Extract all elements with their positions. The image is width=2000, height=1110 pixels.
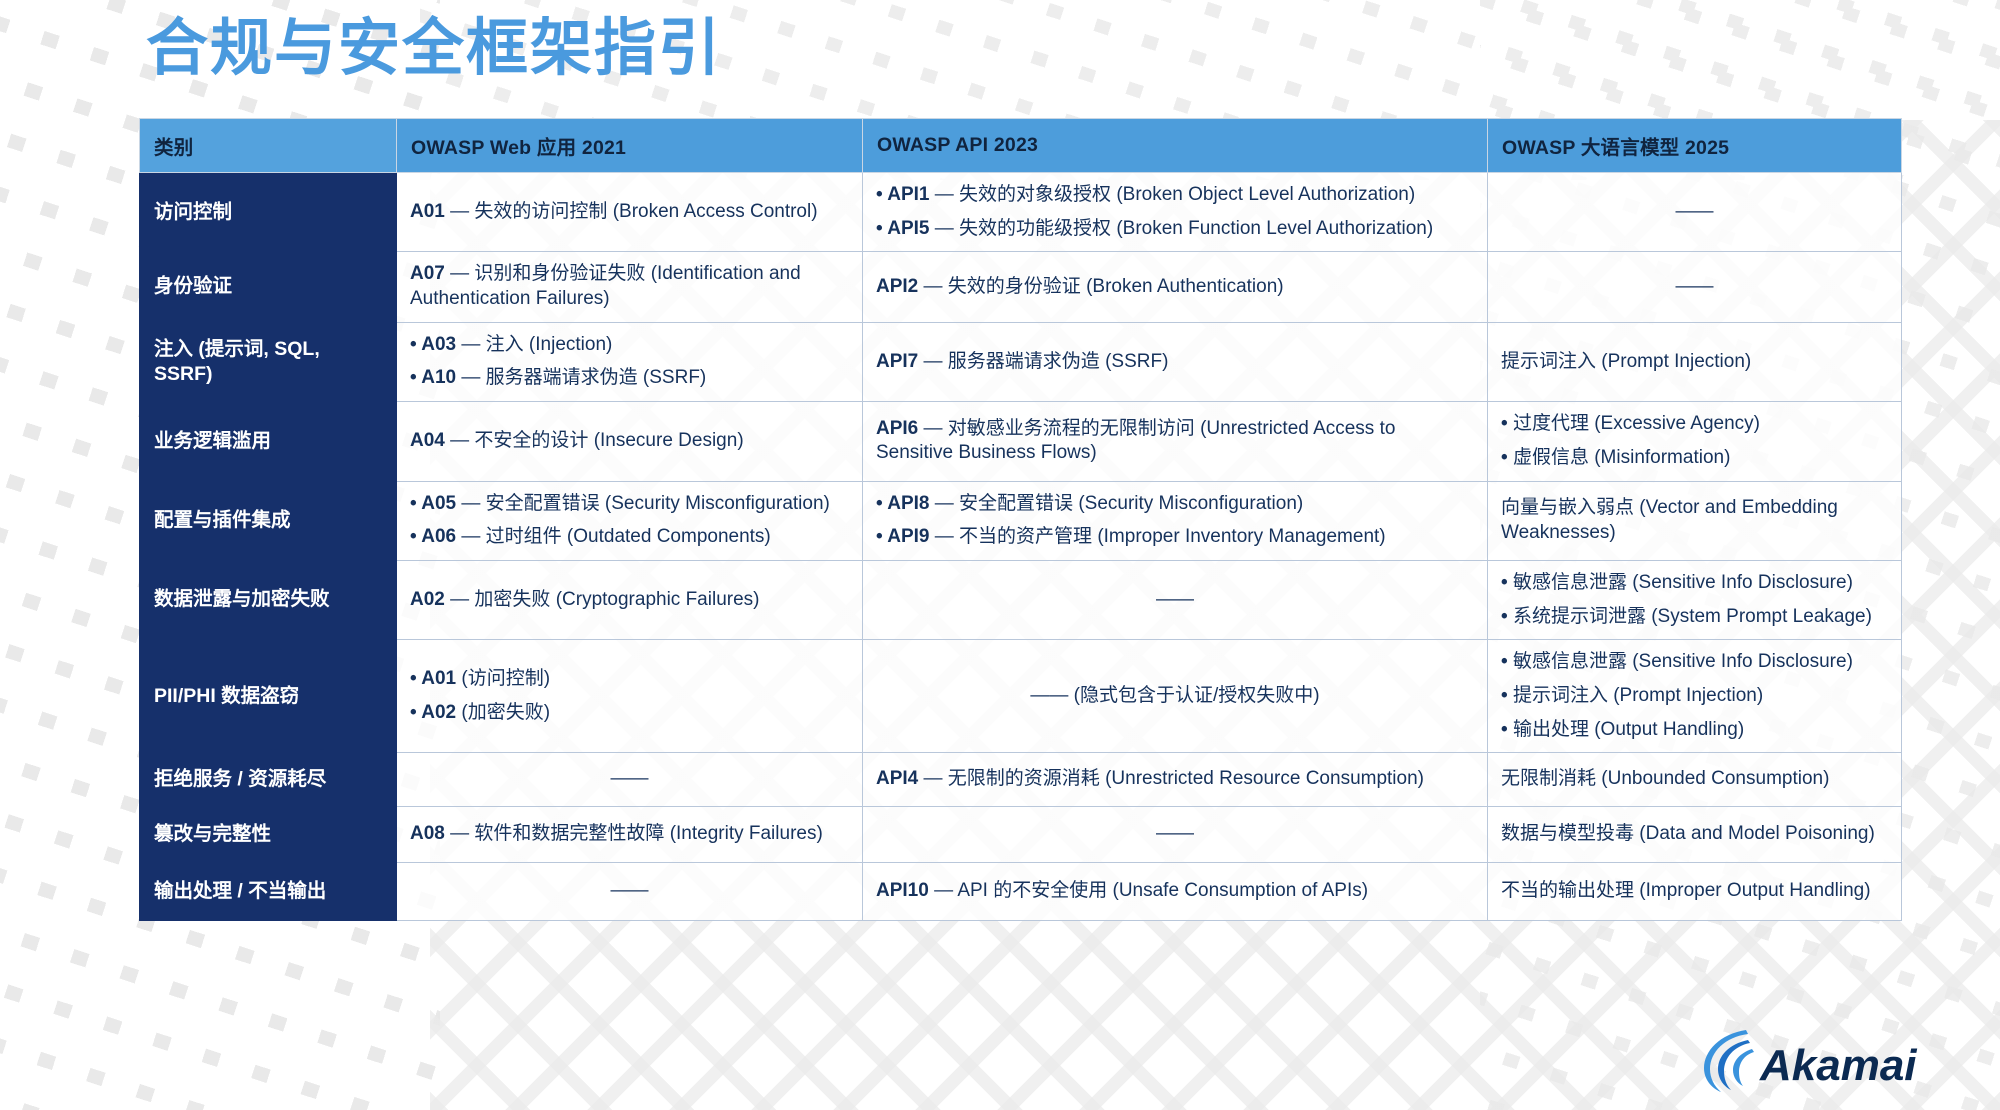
llm-entry: —— xyxy=(1501,200,1888,225)
owasp-web-cell: A07 — 识别和身份验证失败 (Identification and Auth… xyxy=(397,252,863,322)
owasp-web-cell: A08 — 软件和数据完整性故障 (Integrity Failures) xyxy=(397,807,863,863)
entry-text: —— xyxy=(1156,823,1194,844)
web-cell-content: A04 — 不安全的设计 (Insecure Design) xyxy=(410,429,849,454)
owasp-api-cell: —— (隐式包含于认证/授权失败中) xyxy=(863,640,1488,753)
entry-text: — 无限制的资源消耗 (Unrestricted Resource Consum… xyxy=(918,768,1424,789)
entry-text: — API 的不安全使用 (Unsafe Consumption of APIs… xyxy=(929,880,1368,901)
owasp-llm-cell: 敏感信息泄露 (Sensitive Info Disclosure)提示词注入 … xyxy=(1488,640,1902,753)
owasp-llm-cell: 数据与模型投毒 (Data and Model Poisoning) xyxy=(1488,807,1902,863)
llm-entry: 不当的输出处理 (Improper Output Handling) xyxy=(1501,879,1888,904)
row-category-cell: PII/PHI 数据盗窃 xyxy=(140,640,397,753)
entry-code: API8 xyxy=(887,493,929,514)
row-category-cell: 拒绝服务 / 资源耗尽 xyxy=(140,753,397,807)
api-cell-content: —— xyxy=(876,822,1474,847)
svg-text:Akamai: Akamai xyxy=(1759,1041,1917,1090)
llm-entry: 虚假信息 (Misinformation) xyxy=(1501,446,1888,471)
web-entry: A05 — 安全配置错误 (Security Misconfiguration) xyxy=(410,492,849,517)
owasp-llm-cell: 提示词注入 (Prompt Injection) xyxy=(1488,322,1902,401)
web-entry: A02 — 加密失败 (Cryptographic Failures) xyxy=(410,588,849,613)
owasp-web-cell: A04 — 不安全的设计 (Insecure Design) xyxy=(397,402,863,481)
entry-code: A04 xyxy=(410,430,445,451)
llm-cell-content: 无限制消耗 (Unbounded Consumption) xyxy=(1501,767,1888,792)
llm-cell-content: 敏感信息泄露 (Sensitive Info Disclosure)系统提示词泄… xyxy=(1501,571,1888,629)
entry-text: —— xyxy=(1156,589,1194,610)
table-row: 业务逻辑滥用A04 — 不安全的设计 (Insecure Design)API6… xyxy=(140,402,1902,481)
entry-text: (加密失败) xyxy=(456,702,550,723)
owasp-mapping-table: 类别 OWASP Web 应用 2021 OWASP API 2023 OWAS… xyxy=(139,118,1902,921)
owasp-api-cell: API2 — 失效的身份验证 (Broken Authentication) xyxy=(863,252,1488,322)
table-header-row: 类别 OWASP Web 应用 2021 OWASP API 2023 OWAS… xyxy=(140,119,1902,173)
web-entry: A07 — 识别和身份验证失败 (Identification and Auth… xyxy=(410,262,849,311)
api-entry: API8 — 安全配置错误 (Security Misconfiguration… xyxy=(876,492,1474,517)
table-row: 身份验证A07 — 识别和身份验证失败 (Identification and … xyxy=(140,252,1902,322)
table-row: PII/PHI 数据盗窃A01 (访问控制)A02 (加密失败)—— (隐式包含… xyxy=(140,640,1902,753)
table-row: 输出处理 / 不当输出——API10 — API 的不安全使用 (Unsafe … xyxy=(140,863,1902,921)
api-cell-content: API4 — 无限制的资源消耗 (Unrestricted Resource C… xyxy=(876,767,1474,792)
table-row: 配置与插件集成A05 — 安全配置错误 (Security Misconfigu… xyxy=(140,481,1902,560)
owasp-web-cell: A01 — 失效的访问控制 (Broken Access Control) xyxy=(397,173,863,252)
llm-entry: 提示词注入 (Prompt Injection) xyxy=(1501,684,1888,709)
owasp-api-cell: API6 — 对敏感业务流程的无限制访问 (Unrestricted Acces… xyxy=(863,402,1488,481)
owasp-api-cell: API7 — 服务器端请求伪造 (SSRF) xyxy=(863,322,1488,401)
owasp-web-cell: A01 (访问控制)A02 (加密失败) xyxy=(397,640,863,753)
entry-code: A03 xyxy=(421,334,456,355)
entry-text: — 对敏感业务流程的无限制访问 (Unrestricted Access to … xyxy=(876,418,1395,464)
web-entry: —— xyxy=(410,767,849,792)
llm-cell-content: 过度代理 (Excessive Agency)虚假信息 (Misinformat… xyxy=(1501,412,1888,470)
owasp-llm-cell: 过度代理 (Excessive Agency)虚假信息 (Misinformat… xyxy=(1488,402,1902,481)
table-row: 注入 (提示词, SQL, SSRF)A03 — 注入 (Injection)A… xyxy=(140,322,1902,401)
owasp-api-cell: API4 — 无限制的资源消耗 (Unrestricted Resource C… xyxy=(863,753,1488,807)
entry-text: 无限制消耗 (Unbounded Consumption) xyxy=(1501,768,1829,789)
llm-entry: 无限制消耗 (Unbounded Consumption) xyxy=(1501,767,1888,792)
akamai-logo: Akamai xyxy=(1694,1024,1934,1096)
entry-text: 数据与模型投毒 (Data and Model Poisoning) xyxy=(1501,823,1875,844)
entry-code: A02 xyxy=(410,589,445,610)
llm-cell-content: 向量与嵌入弱点 (Vector and Embedding Weaknesses… xyxy=(1501,496,1888,545)
row-category-cell: 数据泄露与加密失败 xyxy=(140,560,397,639)
owasp-llm-cell: —— xyxy=(1488,252,1902,322)
api-cell-content: —— (隐式包含于认证/授权失败中) xyxy=(876,684,1474,709)
owasp-api-cell: —— xyxy=(863,560,1488,639)
akamai-swoosh-icon xyxy=(1704,1030,1754,1092)
owasp-api-cell: —— xyxy=(863,807,1488,863)
web-cell-content: A01 — 失效的访问控制 (Broken Access Control) xyxy=(410,200,849,225)
entry-text: — 安全配置错误 (Security Misconfiguration) xyxy=(929,493,1303,514)
entry-text: 过度代理 (Excessive Agency) xyxy=(1513,413,1760,434)
entry-text: —— xyxy=(611,768,649,789)
web-entry: A06 — 过时组件 (Outdated Components) xyxy=(410,525,849,550)
web-entry: A02 (加密失败) xyxy=(410,701,849,726)
entry-text: 虚假信息 (Misinformation) xyxy=(1513,447,1730,468)
entry-text: — 过时组件 (Outdated Components) xyxy=(456,526,771,547)
akamai-wordmark: Akamai xyxy=(1759,1041,1917,1090)
entry-code: A01 xyxy=(421,668,456,689)
entry-text: — 不安全的设计 (Insecure Design) xyxy=(445,430,744,451)
web-cell-content: A03 — 注入 (Injection)A10 — 服务器端请求伪造 (SSRF… xyxy=(410,333,849,391)
owasp-llm-cell: 无限制消耗 (Unbounded Consumption) xyxy=(1488,753,1902,807)
row-category-cell: 篡改与完整性 xyxy=(140,807,397,863)
entry-text: 不当的输出处理 (Improper Output Handling) xyxy=(1501,880,1871,901)
owasp-web-cell: A02 — 加密失败 (Cryptographic Failures) xyxy=(397,560,863,639)
llm-cell-content: 敏感信息泄露 (Sensitive Info Disclosure)提示词注入 … xyxy=(1501,650,1888,742)
llm-cell-content: —— xyxy=(1501,275,1888,300)
entry-code: A05 xyxy=(421,493,456,514)
row-category-cell: 配置与插件集成 xyxy=(140,481,397,560)
entry-code: A01 xyxy=(410,201,445,222)
entry-code: A02 xyxy=(421,702,456,723)
llm-entry: 敏感信息泄露 (Sensitive Info Disclosure) xyxy=(1501,571,1888,596)
web-entry: A01 — 失效的访问控制 (Broken Access Control) xyxy=(410,200,849,225)
llm-cell-content: 不当的输出处理 (Improper Output Handling) xyxy=(1501,879,1888,904)
web-cell-content: A07 — 识别和身份验证失败 (Identification and Auth… xyxy=(410,262,849,311)
api-cell-content: API8 — 安全配置错误 (Security Misconfiguration… xyxy=(876,492,1474,550)
entry-text: 输出处理 (Output Handling) xyxy=(1513,719,1744,740)
owasp-llm-cell: 不当的输出处理 (Improper Output Handling) xyxy=(1488,863,1902,921)
web-cell-content: A01 (访问控制)A02 (加密失败) xyxy=(410,667,849,725)
web-entry: A10 — 服务器端请求伪造 (SSRF) xyxy=(410,366,849,391)
llm-cell-content: 数据与模型投毒 (Data and Model Poisoning) xyxy=(1501,822,1888,847)
entry-text: — 软件和数据完整性故障 (Integrity Failures) xyxy=(445,823,823,844)
row-category-cell: 业务逻辑滥用 xyxy=(140,402,397,481)
web-cell-content: A08 — 软件和数据完整性故障 (Integrity Failures) xyxy=(410,822,849,847)
entry-text: 敏感信息泄露 (Sensitive Info Disclosure) xyxy=(1513,651,1853,672)
entry-text: 敏感信息泄露 (Sensitive Info Disclosure) xyxy=(1513,572,1853,593)
row-category-cell: 注入 (提示词, SQL, SSRF) xyxy=(140,322,397,401)
llm-entry: 敏感信息泄露 (Sensitive Info Disclosure) xyxy=(1501,650,1888,675)
entry-code: API9 xyxy=(887,526,929,547)
entry-text: 提示词注入 (Prompt Injection) xyxy=(1501,351,1751,372)
api-entry: API9 — 不当的资产管理 (Improper Inventory Manag… xyxy=(876,525,1474,550)
owasp-web-cell: —— xyxy=(397,753,863,807)
entry-code: API5 xyxy=(887,218,929,239)
entry-code: A08 xyxy=(410,823,445,844)
entry-text: — 识别和身份验证失败 (Identification and Authenti… xyxy=(410,263,801,309)
api-cell-content: API1 — 失效的对象级授权 (Broken Object Level Aut… xyxy=(876,183,1474,241)
api-entry: API5 — 失效的功能级授权 (Broken Function Level A… xyxy=(876,217,1474,242)
owasp-api-cell: API1 — 失效的对象级授权 (Broken Object Level Aut… xyxy=(863,173,1488,252)
page-title: 合规与安全框架指引 xyxy=(146,16,722,81)
entry-text: — 注入 (Injection) xyxy=(456,334,612,355)
llm-entry: 过度代理 (Excessive Agency) xyxy=(1501,412,1888,437)
api-cell-content: API10 — API 的不安全使用 (Unsafe Consumption o… xyxy=(876,879,1474,904)
web-entry: —— xyxy=(410,879,849,904)
owasp-web-cell: A03 — 注入 (Injection)A10 — 服务器端请求伪造 (SSRF… xyxy=(397,322,863,401)
entry-text: 系统提示词泄露 (System Prompt Leakage) xyxy=(1513,606,1872,627)
llm-entry: 向量与嵌入弱点 (Vector and Embedding Weaknesses… xyxy=(1501,496,1888,545)
column-header-category: 类别 xyxy=(140,119,397,173)
table-header: 类别 OWASP Web 应用 2021 OWASP API 2023 OWAS… xyxy=(140,119,1902,173)
entry-text: 提示词注入 (Prompt Injection) xyxy=(1513,685,1763,706)
row-category-cell: 访问控制 xyxy=(140,173,397,252)
entry-code: API10 xyxy=(876,880,929,901)
entry-code: API2 xyxy=(876,276,918,297)
api-entry: API7 — 服务器端请求伪造 (SSRF) xyxy=(876,350,1474,375)
owasp-api-cell: API8 — 安全配置错误 (Security Misconfiguration… xyxy=(863,481,1488,560)
llm-entry: 输出处理 (Output Handling) xyxy=(1501,718,1888,743)
llm-entry: 提示词注入 (Prompt Injection) xyxy=(1501,350,1888,375)
api-cell-content: —— xyxy=(876,588,1474,613)
api-entry: API10 — API 的不安全使用 (Unsafe Consumption o… xyxy=(876,879,1474,904)
web-cell-content: —— xyxy=(410,767,849,792)
owasp-web-cell: —— xyxy=(397,863,863,921)
column-header-owasp-web: OWASP Web 应用 2021 xyxy=(397,119,863,173)
web-entry: A01 (访问控制) xyxy=(410,667,849,692)
entry-code: A10 xyxy=(421,367,456,388)
table-row: 访问控制A01 — 失效的访问控制 (Broken Access Control… xyxy=(140,173,1902,252)
api-entry: —— (隐式包含于认证/授权失败中) xyxy=(876,684,1474,709)
api-entry: API1 — 失效的对象级授权 (Broken Object Level Aut… xyxy=(876,183,1474,208)
table-row: 拒绝服务 / 资源耗尽——API4 — 无限制的资源消耗 (Unrestrict… xyxy=(140,753,1902,807)
web-cell-content: A02 — 加密失败 (Cryptographic Failures) xyxy=(410,588,849,613)
entry-text: — 安全配置错误 (Security Misconfiguration) xyxy=(456,493,830,514)
entry-text: 向量与嵌入弱点 (Vector and Embedding Weaknesses… xyxy=(1501,497,1838,543)
entry-text: — 失效的身份验证 (Broken Authentication) xyxy=(918,276,1283,297)
column-header-owasp-api: OWASP API 2023 xyxy=(863,119,1488,173)
web-entry: A03 — 注入 (Injection) xyxy=(410,333,849,358)
api-entry: API4 — 无限制的资源消耗 (Unrestricted Resource C… xyxy=(876,767,1474,792)
web-entry: A04 — 不安全的设计 (Insecure Design) xyxy=(410,429,849,454)
entry-text: —— xyxy=(1676,276,1714,297)
owasp-llm-cell: 向量与嵌入弱点 (Vector and Embedding Weaknesses… xyxy=(1488,481,1902,560)
row-category-cell: 输出处理 / 不当输出 xyxy=(140,863,397,921)
entry-text: —— (隐式包含于认证/授权失败中) xyxy=(1030,685,1319,706)
entry-code: API1 xyxy=(887,184,929,205)
entry-code: API4 xyxy=(876,768,918,789)
llm-entry: 系统提示词泄露 (System Prompt Leakage) xyxy=(1501,605,1888,630)
api-entry: —— xyxy=(876,822,1474,847)
owasp-llm-cell: 敏感信息泄露 (Sensitive Info Disclosure)系统提示词泄… xyxy=(1488,560,1902,639)
column-header-owasp-llm: OWASP 大语言模型 2025 xyxy=(1488,119,1902,173)
web-cell-content: —— xyxy=(410,879,849,904)
entry-text: — 服务器端请求伪造 (SSRF) xyxy=(456,367,706,388)
entry-code: API6 xyxy=(876,418,918,439)
owasp-web-cell: A05 — 安全配置错误 (Security Misconfiguration)… xyxy=(397,481,863,560)
entry-text: —— xyxy=(611,880,649,901)
entry-text: — 失效的访问控制 (Broken Access Control) xyxy=(445,201,818,222)
api-entry: API2 — 失效的身份验证 (Broken Authentication) xyxy=(876,275,1474,300)
table-body: 访问控制A01 — 失效的访问控制 (Broken Access Control… xyxy=(140,173,1902,921)
owasp-api-cell: API10 — API 的不安全使用 (Unsafe Consumption o… xyxy=(863,863,1488,921)
entry-text: (访问控制) xyxy=(456,668,550,689)
entry-code: A06 xyxy=(421,526,456,547)
web-cell-content: A05 — 安全配置错误 (Security Misconfiguration)… xyxy=(410,492,849,550)
api-cell-content: API2 — 失效的身份验证 (Broken Authentication) xyxy=(876,275,1474,300)
entry-text: — 失效的对象级授权 (Broken Object Level Authoriz… xyxy=(929,184,1415,205)
llm-entry: 数据与模型投毒 (Data and Model Poisoning) xyxy=(1501,822,1888,847)
web-entry: A08 — 软件和数据完整性故障 (Integrity Failures) xyxy=(410,822,849,847)
entry-code: API7 xyxy=(876,351,918,372)
entry-text: — 加密失败 (Cryptographic Failures) xyxy=(445,589,760,610)
owasp-llm-cell: —— xyxy=(1488,173,1902,252)
llm-cell-content: 提示词注入 (Prompt Injection) xyxy=(1501,350,1888,375)
entry-text: — 失效的功能级授权 (Broken Function Level Author… xyxy=(929,218,1433,239)
entry-text: — 服务器端请求伪造 (SSRF) xyxy=(918,351,1168,372)
table-row: 数据泄露与加密失败A02 — 加密失败 (Cryptographic Failu… xyxy=(140,560,1902,639)
llm-cell-content: —— xyxy=(1501,200,1888,225)
row-category-cell: 身份验证 xyxy=(140,252,397,322)
llm-entry: —— xyxy=(1501,275,1888,300)
api-entry: —— xyxy=(876,588,1474,613)
entry-text: —— xyxy=(1676,201,1714,222)
table-row: 篡改与完整性A08 — 软件和数据完整性故障 (Integrity Failur… xyxy=(140,807,1902,863)
api-cell-content: API6 — 对敏感业务流程的无限制访问 (Unrestricted Acces… xyxy=(876,417,1474,466)
api-cell-content: API7 — 服务器端请求伪造 (SSRF) xyxy=(876,350,1474,375)
entry-text: — 不当的资产管理 (Improper Inventory Management… xyxy=(929,526,1385,547)
entry-code: A07 xyxy=(410,263,445,284)
api-entry: API6 — 对敏感业务流程的无限制访问 (Unrestricted Acces… xyxy=(876,417,1474,466)
